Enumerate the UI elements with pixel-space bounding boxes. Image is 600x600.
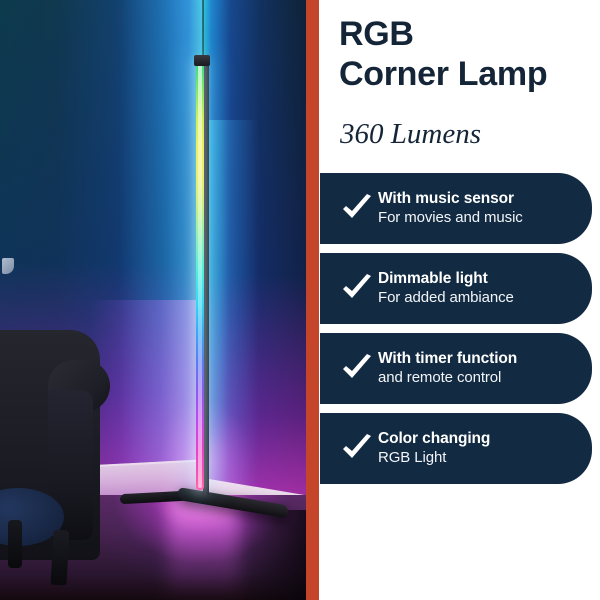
info-panel: RGB Corner Lamp 360 Lumens With music se…	[319, 0, 600, 600]
check-icon	[336, 353, 378, 385]
feature-text: With music sensor For movies and music	[378, 189, 592, 228]
armchair-leg-front	[51, 530, 70, 586]
feature-title: Color changing	[378, 429, 580, 448]
lamp-led-core-highlight	[198, 64, 202, 488]
product-title-line1: RGB	[339, 15, 414, 53]
product-ad-page: RGB Corner Lamp 360 Lumens With music se…	[0, 0, 600, 600]
check-icon	[336, 273, 378, 305]
feature-text: Dimmable light For added ambiance	[378, 269, 592, 308]
feature-item-music-sensor: With music sensor For movies and music	[320, 173, 592, 244]
feature-subtitle: For added ambiance	[378, 288, 580, 308]
armchair-leg-back	[8, 520, 22, 568]
check-icon	[336, 193, 378, 225]
feature-subtitle: RGB Light	[378, 448, 580, 468]
product-title: RGB Corner Lamp	[339, 14, 600, 94]
product-photo	[0, 0, 308, 600]
product-subtitle: 360 Lumens	[340, 117, 481, 151]
product-title-line2: Corner Lamp	[339, 54, 600, 94]
feature-list: With music sensor For movies and music D…	[319, 173, 600, 493]
floor-shadow-right	[240, 510, 308, 600]
check-icon	[336, 433, 378, 465]
feature-item-color-changing: Color changing RGB Light	[320, 413, 592, 484]
feature-title: With timer function	[378, 349, 580, 368]
feature-text: Color changing RGB Light	[378, 429, 592, 468]
feature-subtitle: and remote control	[378, 368, 580, 388]
feature-subtitle: For movies and music	[378, 208, 580, 228]
feature-text: With timer function and remote control	[378, 349, 592, 388]
feature-title: With music sensor	[378, 189, 580, 208]
feature-item-dimmable-light: Dimmable light For added ambiance	[320, 253, 592, 324]
orange-divider	[306, 0, 319, 600]
feature-item-timer-function: With timer function and remote control	[320, 333, 592, 404]
feature-title: Dimmable light	[378, 269, 580, 288]
lamp-top-cap	[194, 55, 210, 66]
